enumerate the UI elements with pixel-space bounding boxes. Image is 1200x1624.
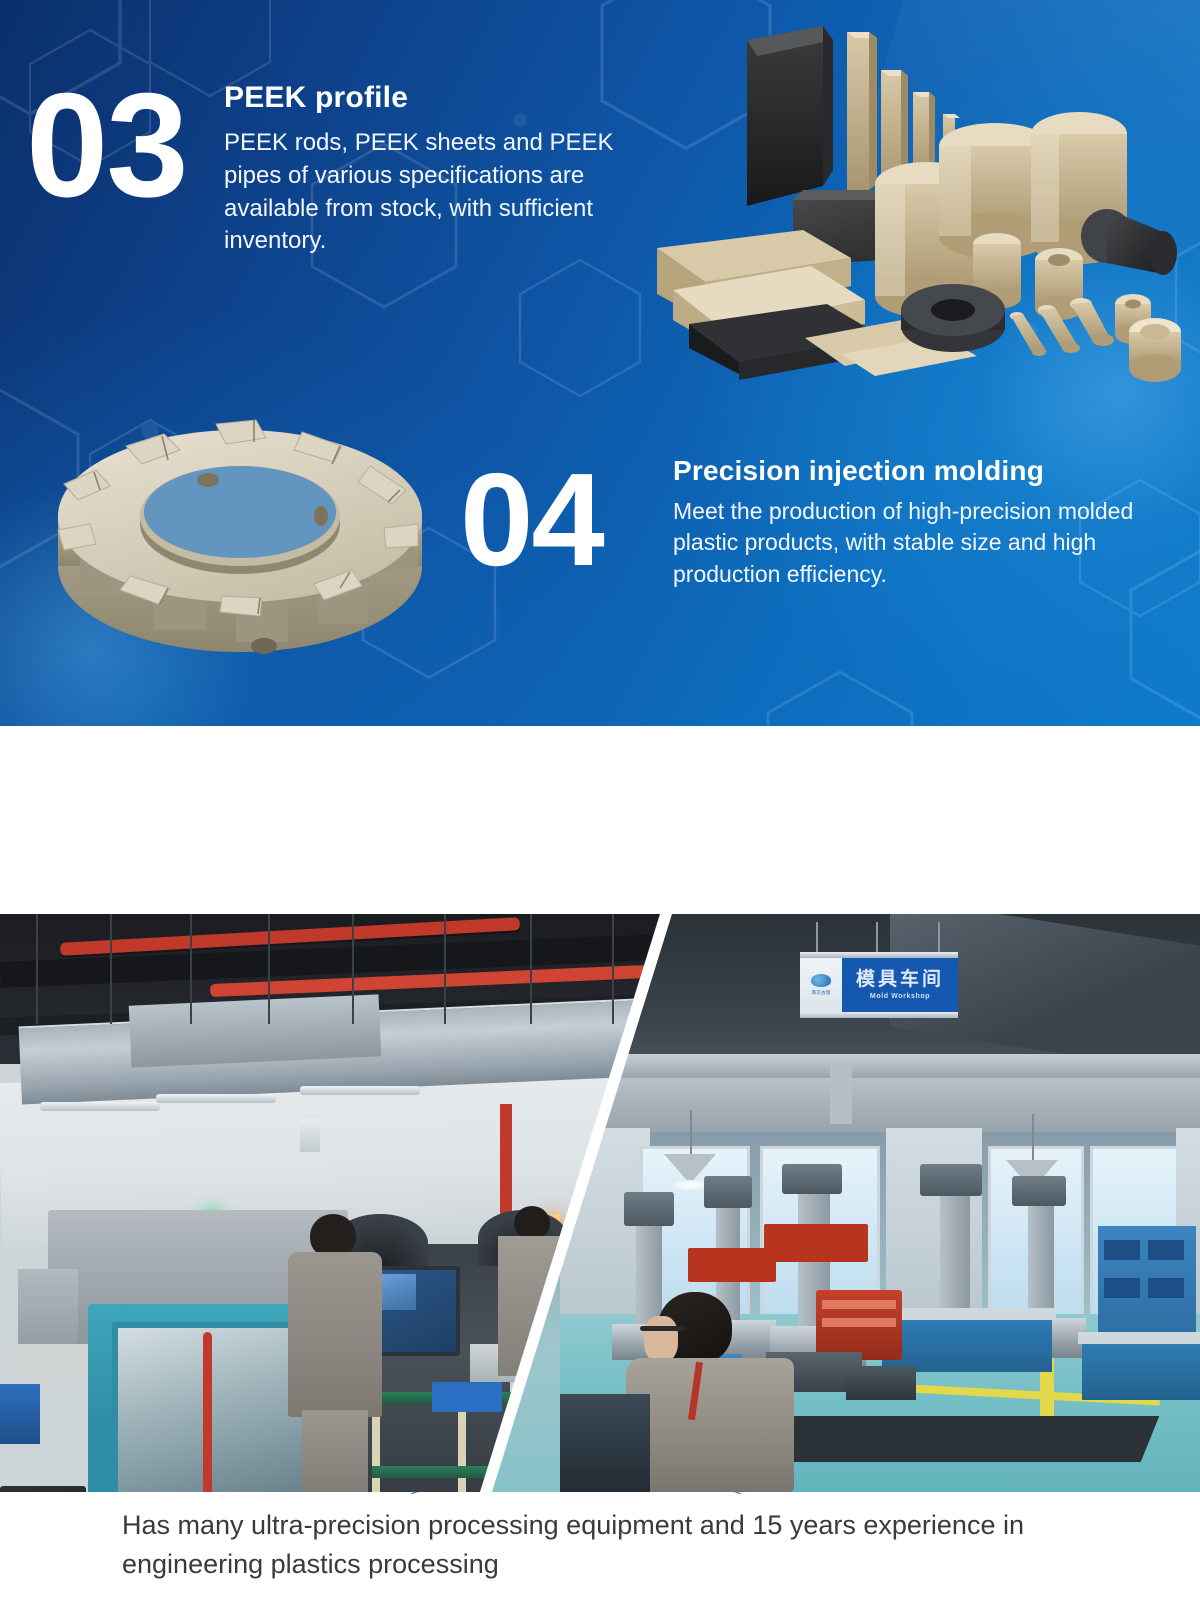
block-title-03: PEEK profile [224, 80, 654, 115]
workshop-photos: 南京古瑞 模具车间 Mold Workshop [0, 914, 1200, 1492]
block-title-04: Precision injection molding [673, 454, 1193, 487]
block-body-04: Meet the production of high-precision mo… [673, 496, 1193, 590]
sign-text-cn: 模具车间 [856, 970, 944, 989]
block-number-04: 04 [460, 454, 603, 586]
sign-text-en: Mold Workshop [870, 993, 930, 1000]
block-number-03: 03 [26, 72, 187, 220]
block-body-03: PEEK rods, PEEK sheets and PEEK pipes of… [224, 127, 654, 258]
peek-products-image [655, 18, 1200, 382]
our-strengths-banner: Our strengths [0, 726, 1200, 914]
worker-operating-cnc [288, 1214, 382, 1492]
company-logo-icon: 南京古瑞 [800, 958, 842, 1012]
peek-ring-part-image [40, 398, 440, 670]
hero-panel: 03 PEEK profile PEEK rods, PEEK sheets a… [0, 0, 1200, 726]
hero-block-04: 04 Precision injection molding Meet the … [455, 448, 1200, 668]
caption-text: Has many ultra-precision processing equi… [122, 1506, 1102, 1584]
mold-workshop-sign: 南京古瑞 模具车间 Mold Workshop [800, 952, 958, 1018]
caption-section: Has many ultra-precision processing equi… [0, 1494, 1200, 1624]
hero-block-03: 03 PEEK profile PEEK rods, PEEK sheets a… [0, 62, 660, 352]
